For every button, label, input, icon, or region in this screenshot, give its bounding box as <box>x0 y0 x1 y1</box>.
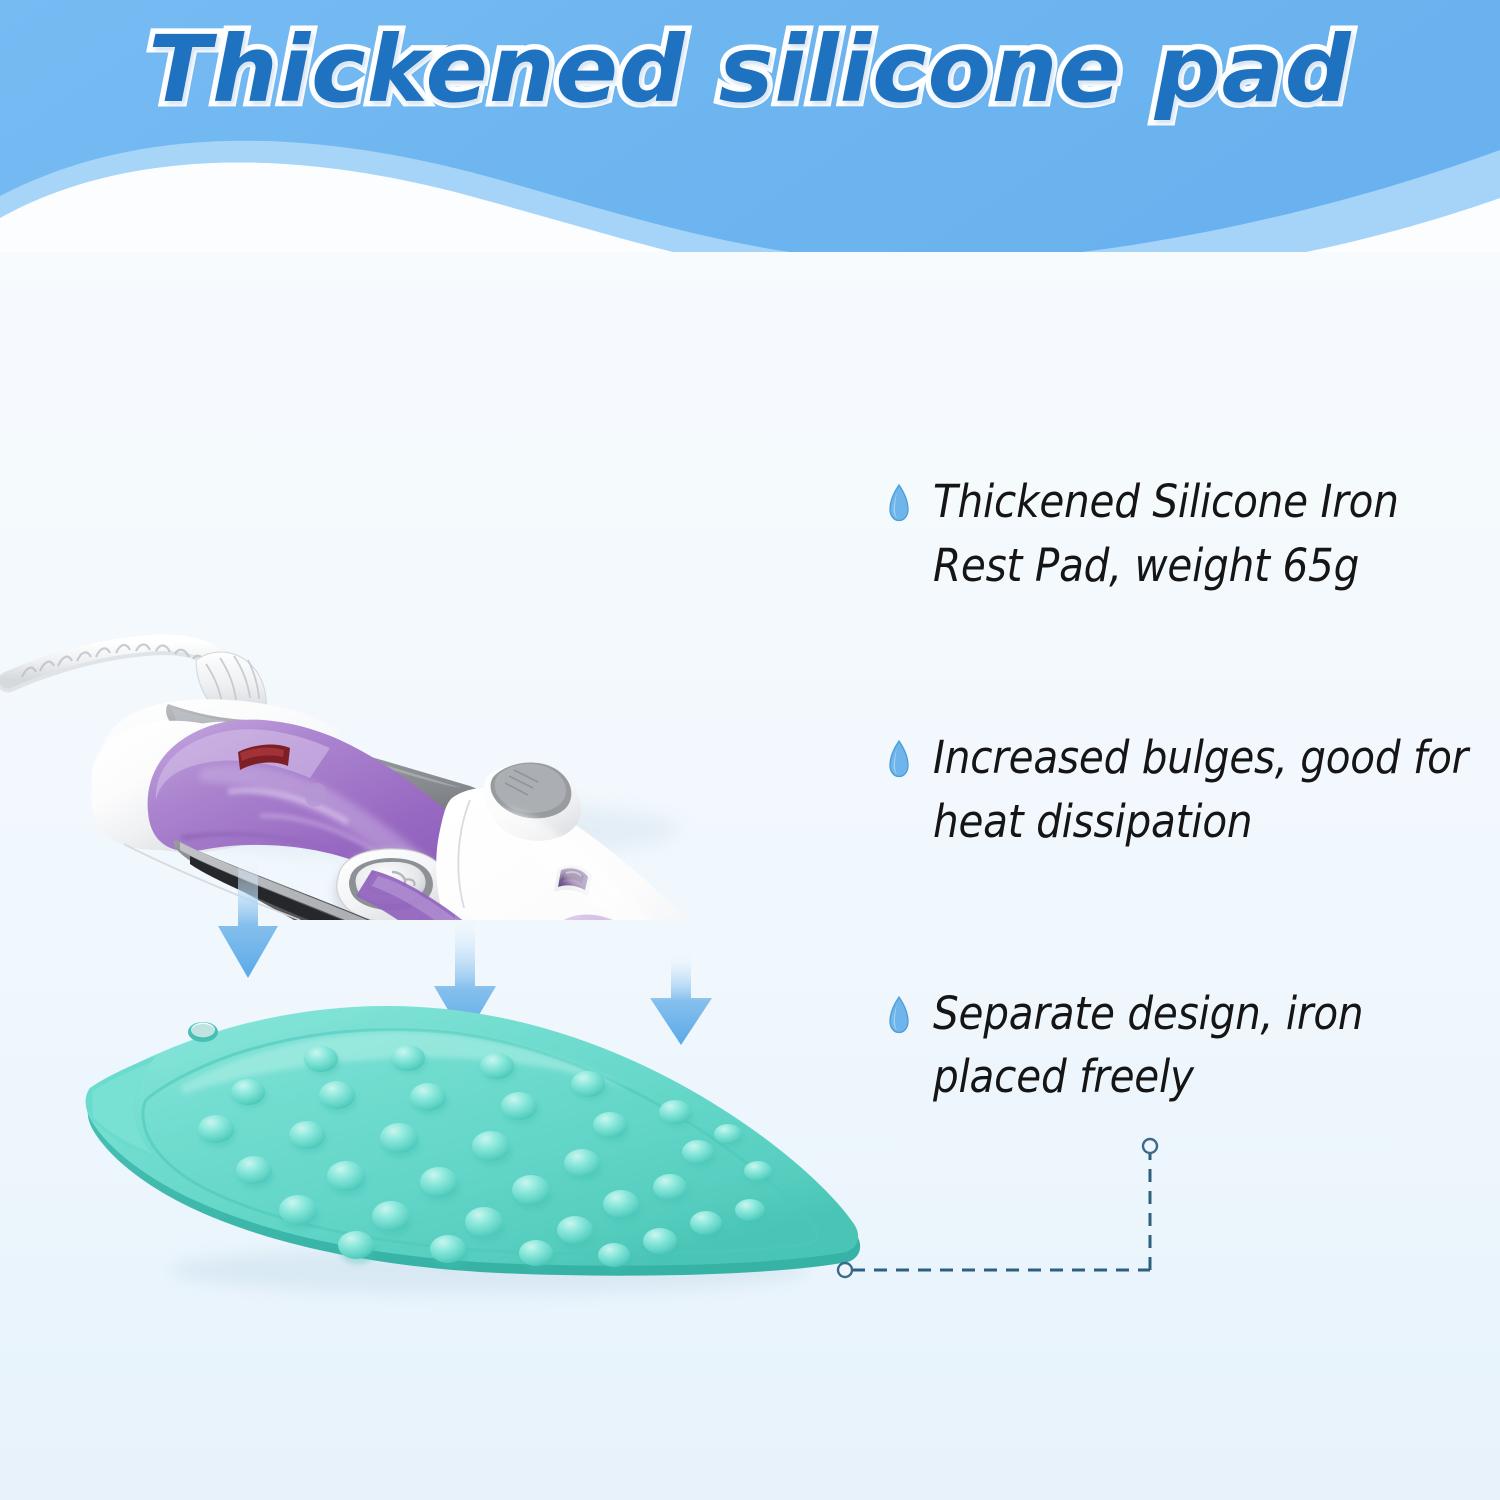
direction-arrow-left <box>212 852 284 982</box>
list-item: Separate design, iron placed freely <box>888 982 1478 1110</box>
iron-droplet-bullet-icon <box>888 996 910 1034</box>
infographic-page: Thickened silicone pad <box>0 0 1500 1500</box>
iron-droplet-bullet-icon <box>888 484 910 522</box>
feature-text: Increased bulges, good for heat dissipat… <box>933 726 1478 854</box>
dimension-callout <box>832 1130 1182 1290</box>
iron-droplet-bullet-icon <box>888 740 910 778</box>
feature-list: Thickened Silicone Iron Rest Pad, weight… <box>888 470 1478 1109</box>
header-banner: Thickened silicone pad <box>0 0 1500 252</box>
callout-endpoint-left <box>838 1263 852 1277</box>
silicone-pad-illustration <box>60 970 890 1310</box>
list-item: Thickened Silicone Iron Rest Pad, weight… <box>888 470 1478 598</box>
pad-hanging-hole <box>188 1022 218 1042</box>
steam-iron-illustration <box>0 300 860 920</box>
feature-text: Separate design, iron placed freely <box>933 982 1478 1110</box>
feature-text: Thickened Silicone Iron Rest Pad, weight… <box>933 470 1478 598</box>
callout-endpoint-top <box>1143 1139 1157 1153</box>
list-item: Increased bulges, good for heat dissipat… <box>888 726 1478 854</box>
